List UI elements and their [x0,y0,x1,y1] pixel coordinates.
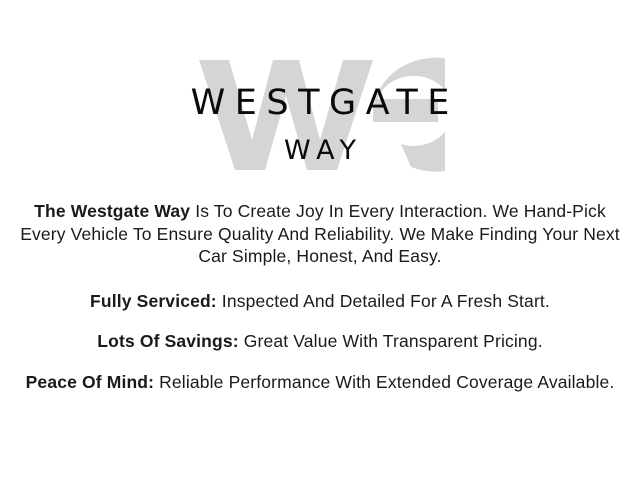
westgate-way-banner: WESTGATE WAY The Westgate Way Is To Crea… [0,0,640,480]
wordmark-way: WAY [277,137,363,164]
wordmark: WESTGATE WAY [0,52,640,177]
spacer [12,312,628,330]
feature-rest: Reliable Performance With Extended Cover… [154,372,614,392]
logo-lockup: WESTGATE WAY [0,52,640,177]
feature-lead: Lots Of Savings: [97,331,238,351]
intro-paragraph: The Westgate Way Is To Create Joy In Eve… [12,200,628,268]
feature-lots-of-savings: Lots Of Savings: Great Value With Transp… [12,330,628,353]
copy-block: The Westgate Way Is To Create Joy In Eve… [12,200,628,393]
feature-rest: Inspected And Detailed For A Fresh Start… [217,291,550,311]
feature-peace-of-mind: Peace Of Mind: Reliable Performance With… [12,371,628,394]
spacer [12,353,628,371]
spacer [12,268,628,290]
feature-lead: Peace Of Mind: [26,372,155,392]
feature-lead: Fully Serviced: [90,291,217,311]
feature-rest: Great Value With Transparent Pricing. [239,331,543,351]
wordmark-westgate: WESTGATE [181,86,459,121]
feature-fully-serviced: Fully Serviced: Inspected And Detailed F… [12,290,628,313]
intro-lead: The Westgate Way [34,201,190,221]
